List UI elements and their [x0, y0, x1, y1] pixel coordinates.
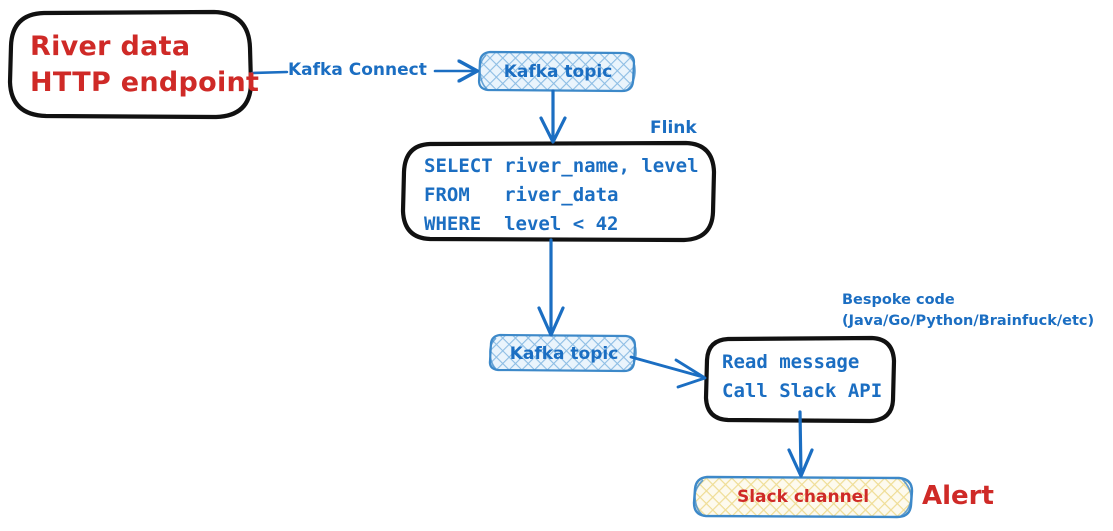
edge-source-to-kafka-1	[252, 71, 474, 73]
diagram-canvas: River data HTTP endpoint Kafka Connect K…	[0, 0, 1113, 531]
source-node-shape[interactable]	[10, 12, 251, 117]
slack-channel-node-shape[interactable]	[694, 477, 912, 517]
flink-sql-node-shape[interactable]	[403, 143, 714, 240]
edge-flink-to-kafka-2	[539, 240, 563, 335]
consumer-node-shape[interactable]	[706, 338, 894, 421]
kafka-topic-node-2-shape[interactable]	[490, 335, 636, 371]
edge-kafka-2-to-consumer	[631, 357, 705, 387]
kafka-topic-node-1-shape[interactable]	[479, 52, 635, 91]
edge-kafka-1-to-flink	[541, 91, 565, 142]
diagram-svg	[0, 0, 1113, 531]
